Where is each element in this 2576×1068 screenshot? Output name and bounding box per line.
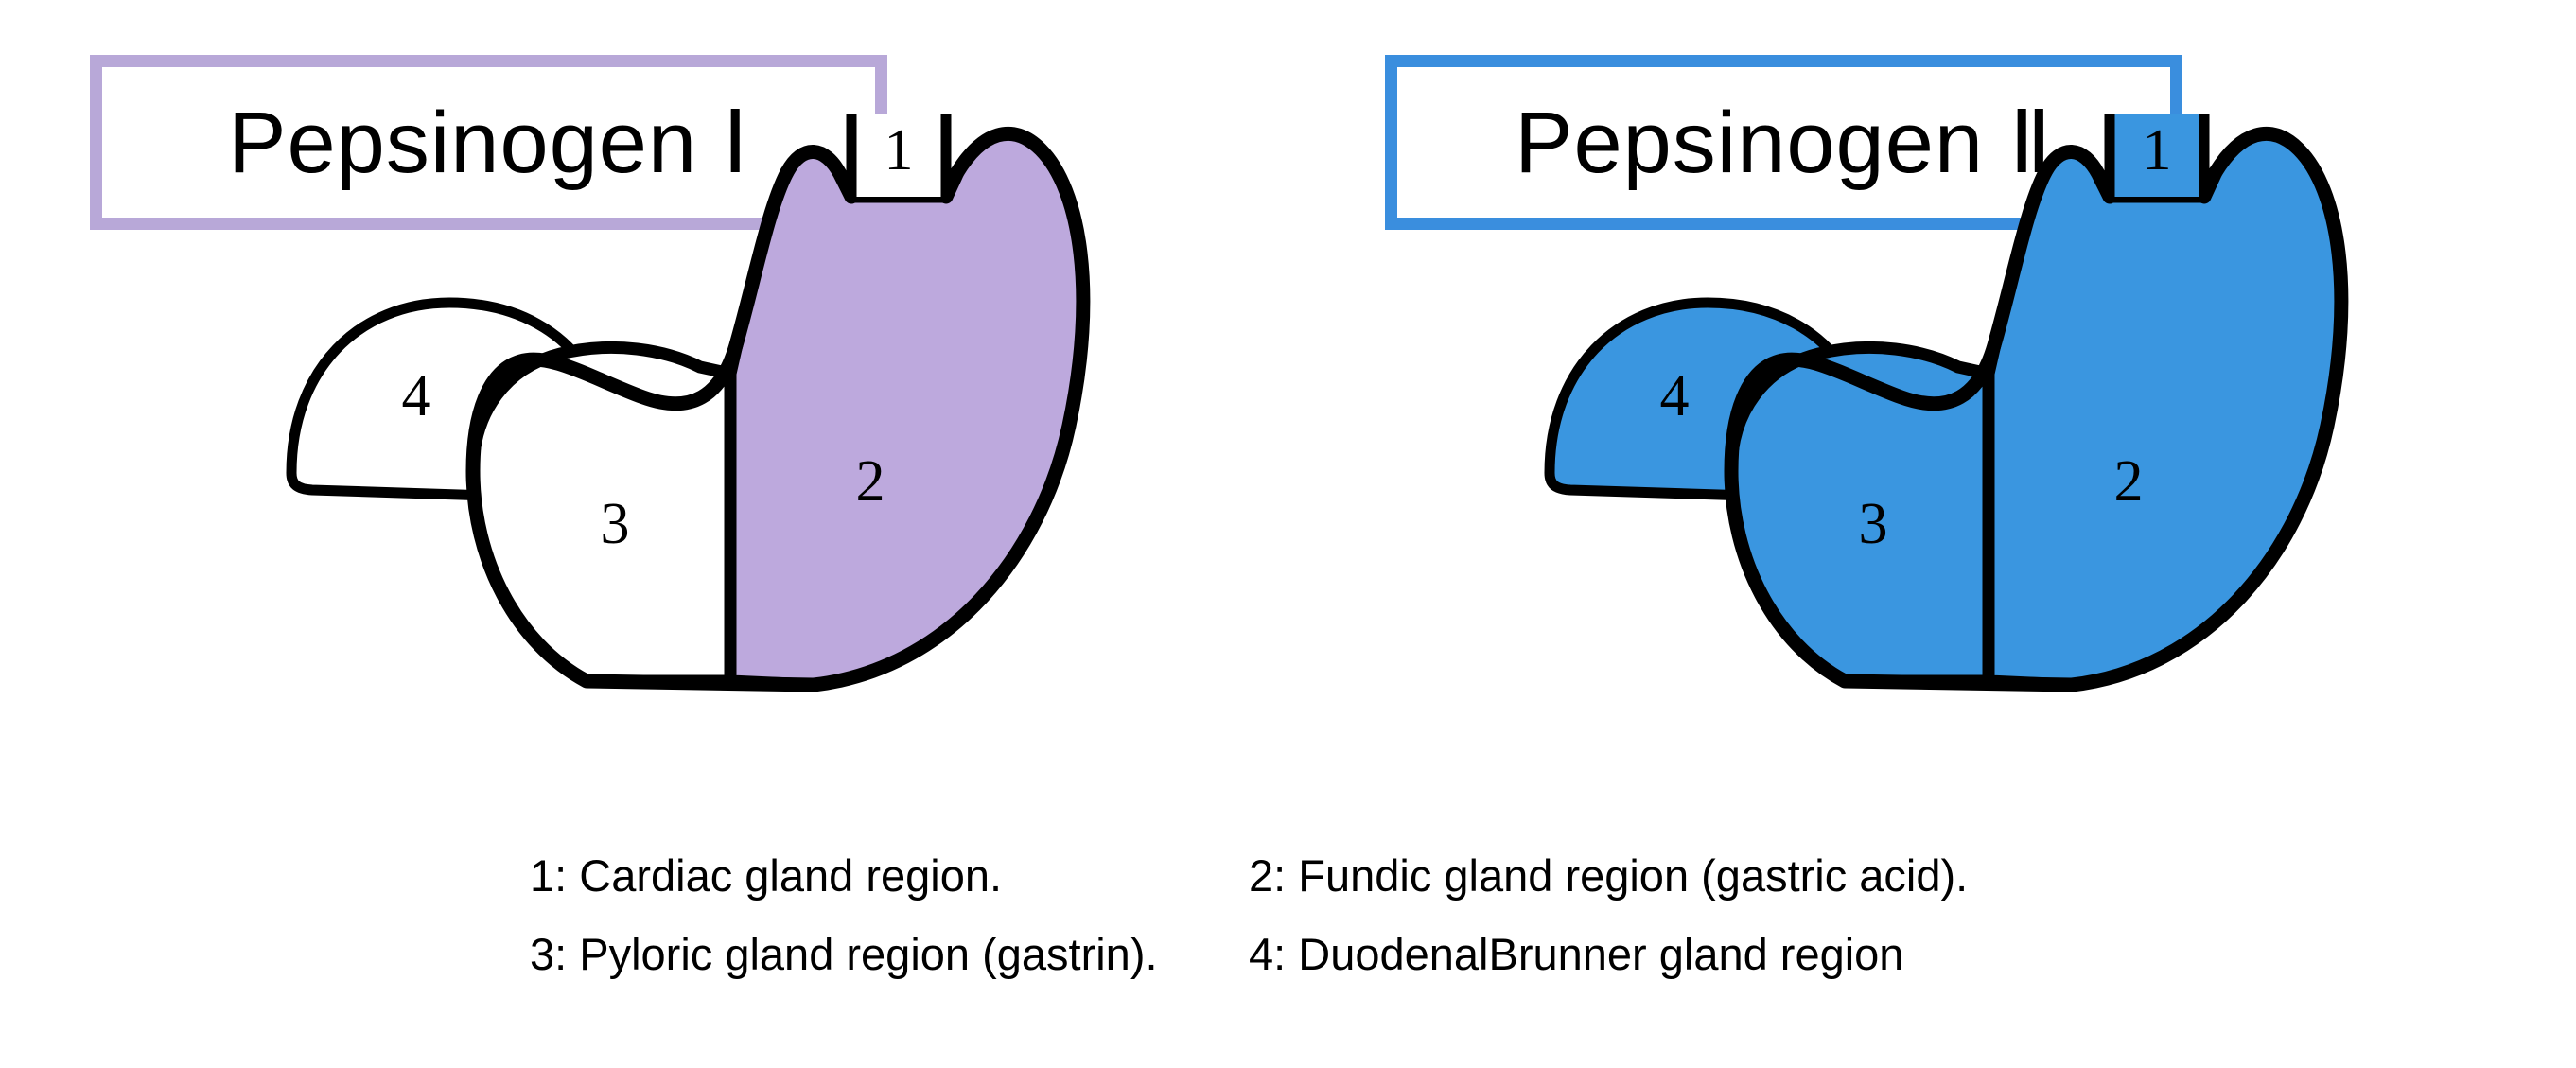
stomach-diagram-pepsinogen-2: 1 2 3 4: [1542, 114, 2488, 814]
panel-pepsinogen-2: Pepsinogen Ⅱ 1 2 3 4: [1306, 0, 2576, 832]
region-label-2: 2: [856, 449, 885, 514]
legend-item-3: 3: Pyloric gland region (gastrin).: [530, 930, 1249, 980]
legend-item-2: 2: Fundic gland region (gastric acid).: [1249, 851, 2024, 902]
region-2-fundic[interactable]: [1989, 133, 2341, 685]
legend-item-4: 4: DuodenalBrunner gland region: [1249, 930, 2024, 980]
legend-row: 3: Pyloric gland region (gastrin). 4: Du…: [530, 930, 2043, 980]
region-label-2: 2: [2114, 449, 2144, 514]
legend-row: 1: Cardiac gland region. 2: Fundic gland…: [530, 851, 2043, 902]
legend-item-1: 1: Cardiac gland region.: [530, 851, 1249, 902]
stomach-diagram-pepsinogen-1: 1 2 3 4: [284, 114, 1230, 814]
region-2-fundic[interactable]: [730, 133, 1083, 685]
panel-pepsinogen-1: Pepsinogen Ⅰ 1 2 3 4: [0, 0, 1306, 832]
region-label-1: 1: [2143, 118, 2172, 183]
region-label-1: 1: [885, 118, 914, 183]
region-label-4: 4: [1660, 364, 1690, 429]
region-label-3: 3: [601, 492, 630, 556]
region-label-3: 3: [1859, 492, 1888, 556]
region-label-4: 4: [402, 364, 431, 429]
legend: 1: Cardiac gland region. 2: Fundic gland…: [530, 851, 2043, 1007]
